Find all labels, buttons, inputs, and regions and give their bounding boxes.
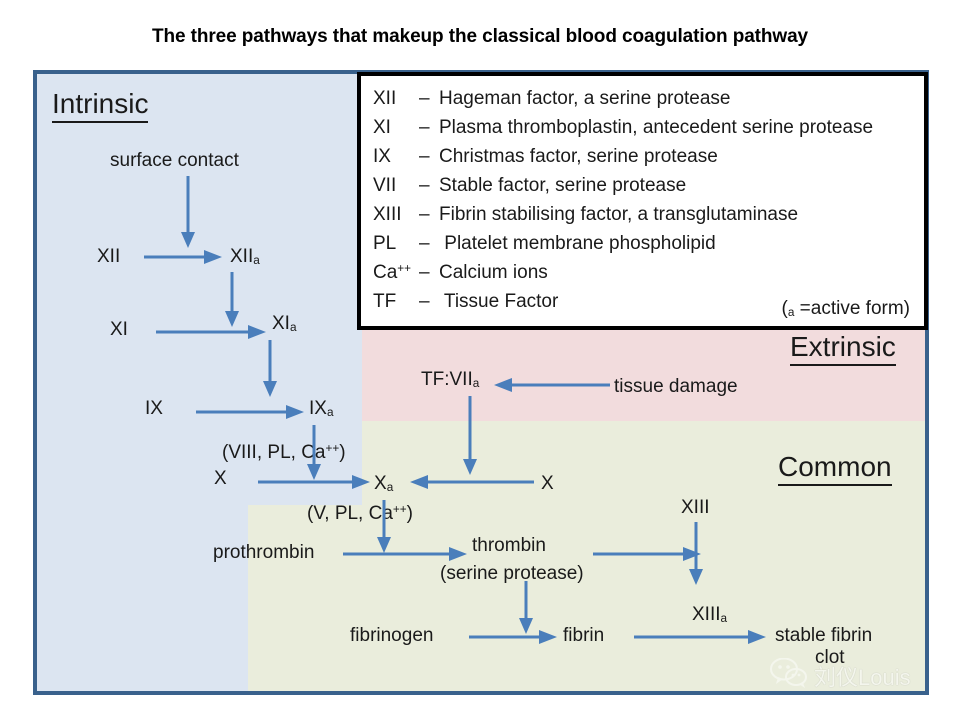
node-thrombin-subtitle: (serine protease)	[440, 563, 584, 585]
legend-dash: –	[419, 117, 439, 139]
legend-dash: –	[419, 88, 439, 110]
node-cofactors-v: (V, PL, Ca++)	[307, 503, 413, 525]
node-xi-a: XIa	[272, 313, 297, 335]
legend-row: XII–Hageman factor, a serine protease	[373, 88, 924, 117]
legend-row: VII–Stable factor, serine protease	[373, 175, 924, 204]
node-xiii: XIII	[681, 497, 710, 519]
node-surface-contact: surface contact	[110, 150, 239, 172]
legend-symbol: IX	[373, 146, 419, 168]
charge-superscript: ++	[397, 262, 411, 275]
legend-text: Platelet membrane phospholipid	[439, 233, 716, 254]
node-x-extrinsic: X	[541, 473, 554, 495]
arrow-prothrombin-to-thrombin	[343, 546, 469, 562]
node-fibrinogen: fibrinogen	[350, 625, 433, 647]
section-heading-extrinsic: Extrinsic	[790, 331, 896, 363]
node-prothrombin: prothrombin	[213, 542, 314, 564]
legend-row: XI–Plasma thromboplastin, antecedent ser…	[373, 117, 924, 146]
legend-active-form-note: (a =active form)	[782, 298, 911, 320]
node-x-a: Xa	[374, 473, 393, 495]
legend-dash: –	[419, 175, 439, 197]
node-fibrin: fibrin	[563, 625, 604, 647]
arrow-thrombin-to-xiii	[593, 546, 703, 562]
node-ix: IX	[145, 398, 163, 420]
arrow-tf-viia-to-xa	[462, 396, 478, 478]
node-xi: XI	[110, 319, 128, 341]
node-thrombin: thrombin	[472, 535, 546, 557]
node-tf-viia: TF:VIIa	[421, 369, 479, 391]
node-xii: XII	[97, 246, 120, 268]
node-cofactors-viii: (VIII, PL, Ca++)	[222, 442, 346, 464]
section-heading-intrinsic: Intrinsic	[52, 88, 148, 120]
legend-dash: –	[419, 233, 439, 255]
arrow-xi-to-xia	[156, 324, 268, 340]
node-xiii-a: XIIIa	[692, 604, 727, 626]
arrow-tissue-damage-to-tf-viia	[492, 377, 610, 393]
diagram-canvas: The three pathways that makeup the class…	[0, 0, 960, 720]
legend-text: Calcium ions	[439, 262, 548, 283]
legend-row: IX–Christmas factor, serine protease	[373, 146, 924, 175]
node-tissue-damage: tissue damage	[614, 376, 738, 398]
arrow-xii-to-xiia	[144, 249, 224, 265]
arrow-xia-to-ixa	[262, 340, 278, 400]
legend-row: XIII–Fibrin stabilising factor, a transg…	[373, 204, 924, 233]
arrow-x-to-xa-intrinsic	[258, 474, 372, 490]
arrow-xiia-to-xia	[224, 272, 240, 330]
node-ix-a: IXa	[309, 398, 334, 420]
legend-symbol: VII	[373, 175, 419, 197]
region-intrinsic-lower	[37, 505, 248, 695]
legend-text: Plasma thromboplastin, antecedent serine…	[439, 117, 873, 138]
page-title: The three pathways that makeup the class…	[0, 26, 960, 48]
arrow-xiii-to-xiiia	[688, 522, 704, 588]
legend-symbol: PL	[373, 233, 419, 255]
legend-text: Fibrin stabilising factor, a transglutam…	[439, 204, 798, 225]
node-x-intrinsic: X	[214, 468, 227, 490]
arrow-x-to-xa-extrinsic	[408, 474, 534, 490]
legend-dash: –	[419, 204, 439, 226]
arrow-surface-contact-to-xii	[180, 176, 196, 252]
legend-dash: –	[419, 262, 439, 284]
node-xii-a: XIIa	[230, 246, 260, 268]
legend-dash: –	[419, 146, 439, 168]
arrow-fibrin-to-stable-clot	[634, 629, 768, 645]
legend-dash: –	[419, 291, 439, 313]
legend-row: Ca++–Calcium ions	[373, 262, 924, 291]
arrow-fibrinogen-to-fibrin	[469, 629, 559, 645]
legend-symbol: Ca++	[373, 262, 419, 284]
region-common-lower-left	[248, 505, 362, 695]
legend-text: Christmas factor, serine protease	[439, 146, 718, 167]
legend-symbol: XIII	[373, 204, 419, 226]
legend-text: Tissue Factor	[439, 291, 558, 312]
legend-symbol: TF	[373, 291, 419, 313]
legend-row: PL– Platelet membrane phospholipid	[373, 233, 924, 262]
legend-text: Hageman factor, a serine protease	[439, 88, 731, 109]
legend-text: Stable factor, serine protease	[439, 175, 686, 196]
section-heading-common: Common	[778, 451, 892, 483]
legend-box: XII–Hageman factor, a serine protease XI…	[357, 72, 928, 330]
legend-symbol: XI	[373, 117, 419, 139]
node-stable-fibrin-clot: stable fibrinclot	[775, 625, 872, 669]
legend-symbol: XII	[373, 88, 419, 110]
arrow-ix-to-ixa	[196, 404, 306, 420]
